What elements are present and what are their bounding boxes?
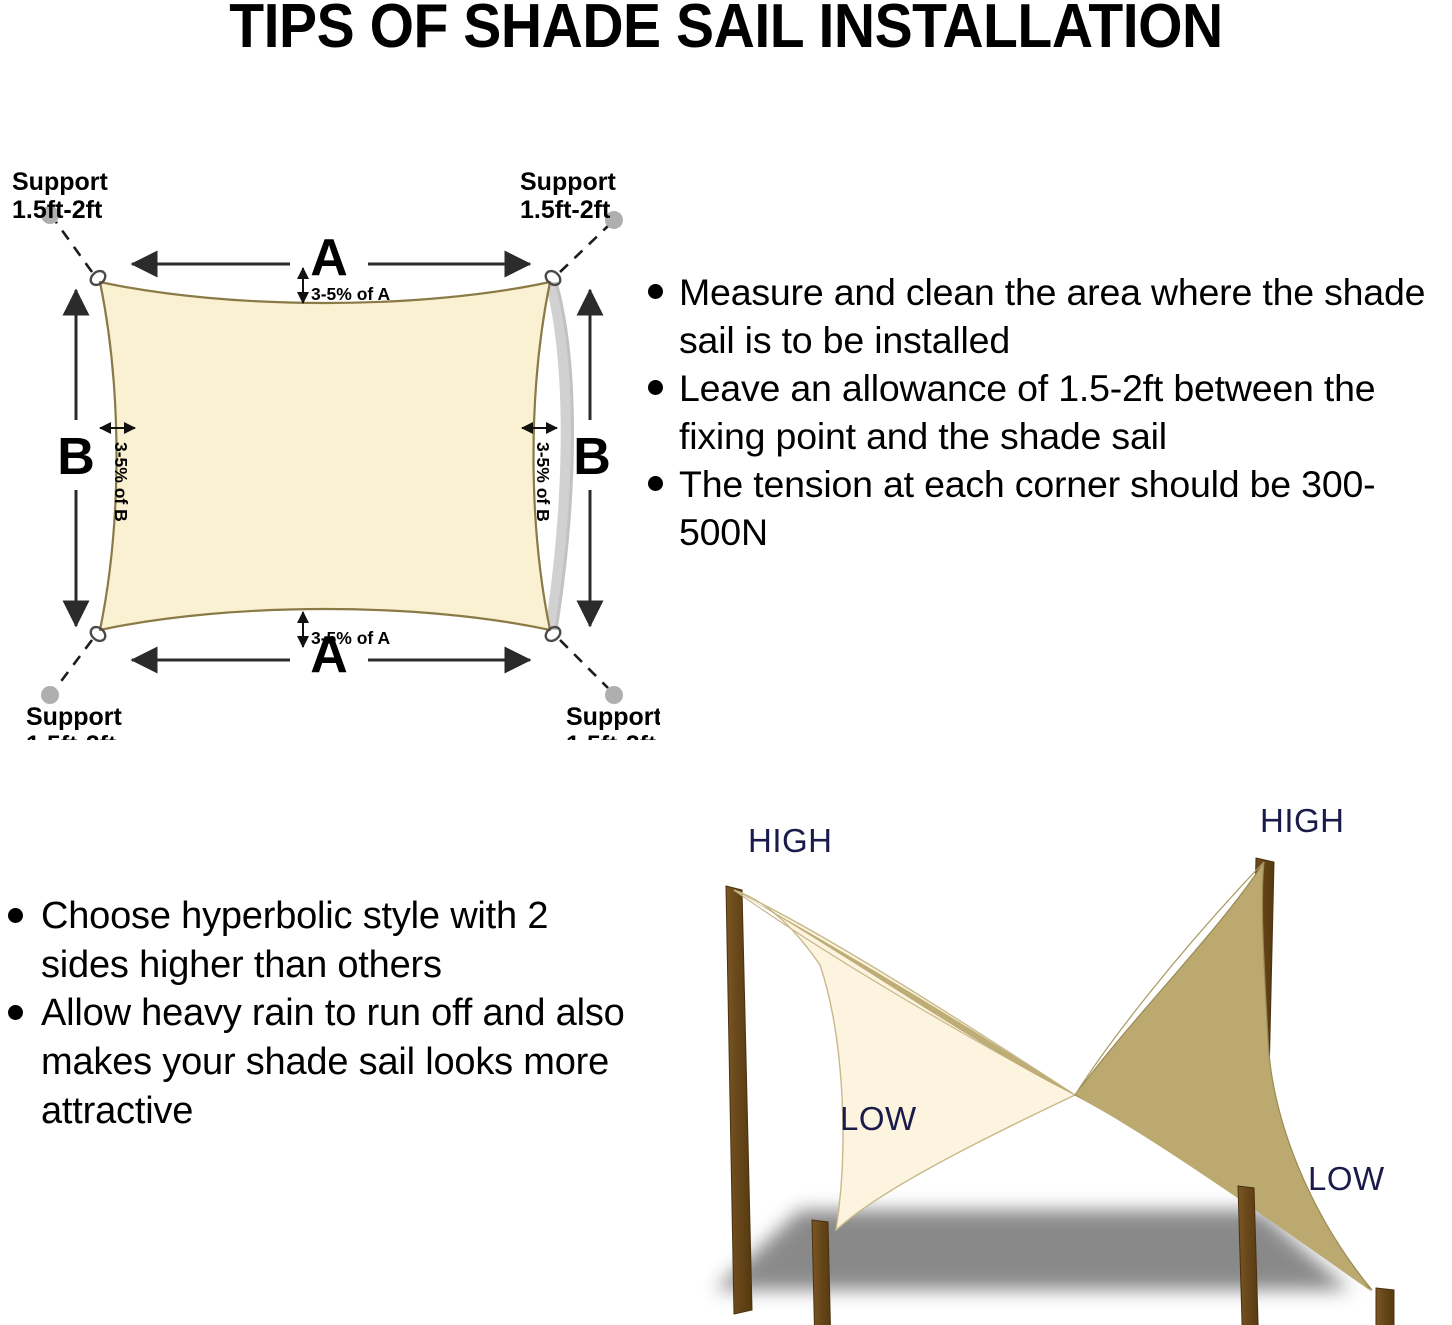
curve-allowance-bottom-label: 3-5% of A [311, 628, 390, 648]
support-dot [605, 686, 623, 704]
sail-surface-light [734, 890, 1075, 1230]
curve-allowance-left: 3-5% of B [100, 428, 135, 522]
post-low-right [1376, 1288, 1394, 1325]
installation-tips-list-right: Measure and clean the area where the sha… [648, 268, 1452, 556]
hyperbolic-sail-illustration: HIGH HIGH LOW LOW [660, 790, 1452, 1325]
page-title: TIPS OF SHADE SAIL INSTALLATION [58, 0, 1394, 58]
support-label-top-left-line2: 1.5ft-2ft [12, 196, 103, 224]
bullet-dot-icon [8, 1005, 23, 1020]
support-label-bottom-right-line2: 1.5ft-2ft [566, 731, 657, 740]
label-low-right: LOW [1308, 1160, 1385, 1197]
shade-sail-shape [100, 282, 550, 630]
curve-allowance-bottom: 3-5% of A [303, 612, 390, 648]
bullet-dot-icon [648, 380, 663, 395]
support-label-top-right-line2: 1.5ft-2ft [520, 196, 611, 224]
support-label-top-right-line1: Support [520, 168, 616, 196]
dimension-label-a-top: A [310, 229, 348, 287]
support-label-bottom-left-line2: 1.5ft-2ft [26, 731, 117, 740]
bullet-dot-icon [648, 284, 663, 299]
curve-allowance-top-label: 3-5% of A [311, 284, 390, 304]
support-label-bottom-left-line1: Support [26, 703, 122, 731]
list-item: Choose hyperbolic style with 2 sides hig… [0, 892, 630, 989]
post-high-left [726, 886, 752, 1314]
list-item-text: Choose hyperbolic style with 2 sides hig… [41, 892, 630, 989]
list-item: Leave an allowance of 1.5-2ft between th… [648, 364, 1452, 460]
support-dot [41, 686, 59, 704]
support-label-top-left-line1: Support [12, 168, 108, 196]
curve-allowance-right-label: 3-5% of B [533, 442, 553, 522]
list-item-text: Measure and clean the area where the sha… [679, 268, 1452, 364]
label-high-left: HIGH [748, 822, 833, 859]
installation-tips-list-bottom: Choose hyperbolic style with 2 sides hig… [0, 892, 630, 1135]
list-item-text: Allow heavy rain to run off and also mak… [41, 989, 630, 1135]
list-item: Measure and clean the area where the sha… [648, 268, 1452, 364]
label-high-right: HIGH [1260, 802, 1345, 839]
curve-allowance-left-label: 3-5% of B [111, 442, 131, 522]
bullet-dot-icon [8, 908, 23, 923]
sail-dimension-diagram: A A B B 3-5% of A 3-5% of A 3-5% of B 3-… [0, 160, 660, 740]
list-item: The tension at each corner should be 300… [648, 460, 1452, 556]
list-item-text: The tension at each corner should be 300… [679, 460, 1452, 556]
dimension-label-b-right: B [573, 428, 611, 486]
label-low-left: LOW [840, 1100, 917, 1137]
list-item: Allow heavy rain to run off and also mak… [0, 989, 630, 1135]
dimension-label-b-left: B [57, 428, 95, 486]
support-label-bottom-right-line1: Support [566, 703, 660, 731]
bullet-dot-icon [648, 476, 663, 491]
list-item-text: Leave an allowance of 1.5-2ft between th… [679, 364, 1452, 460]
